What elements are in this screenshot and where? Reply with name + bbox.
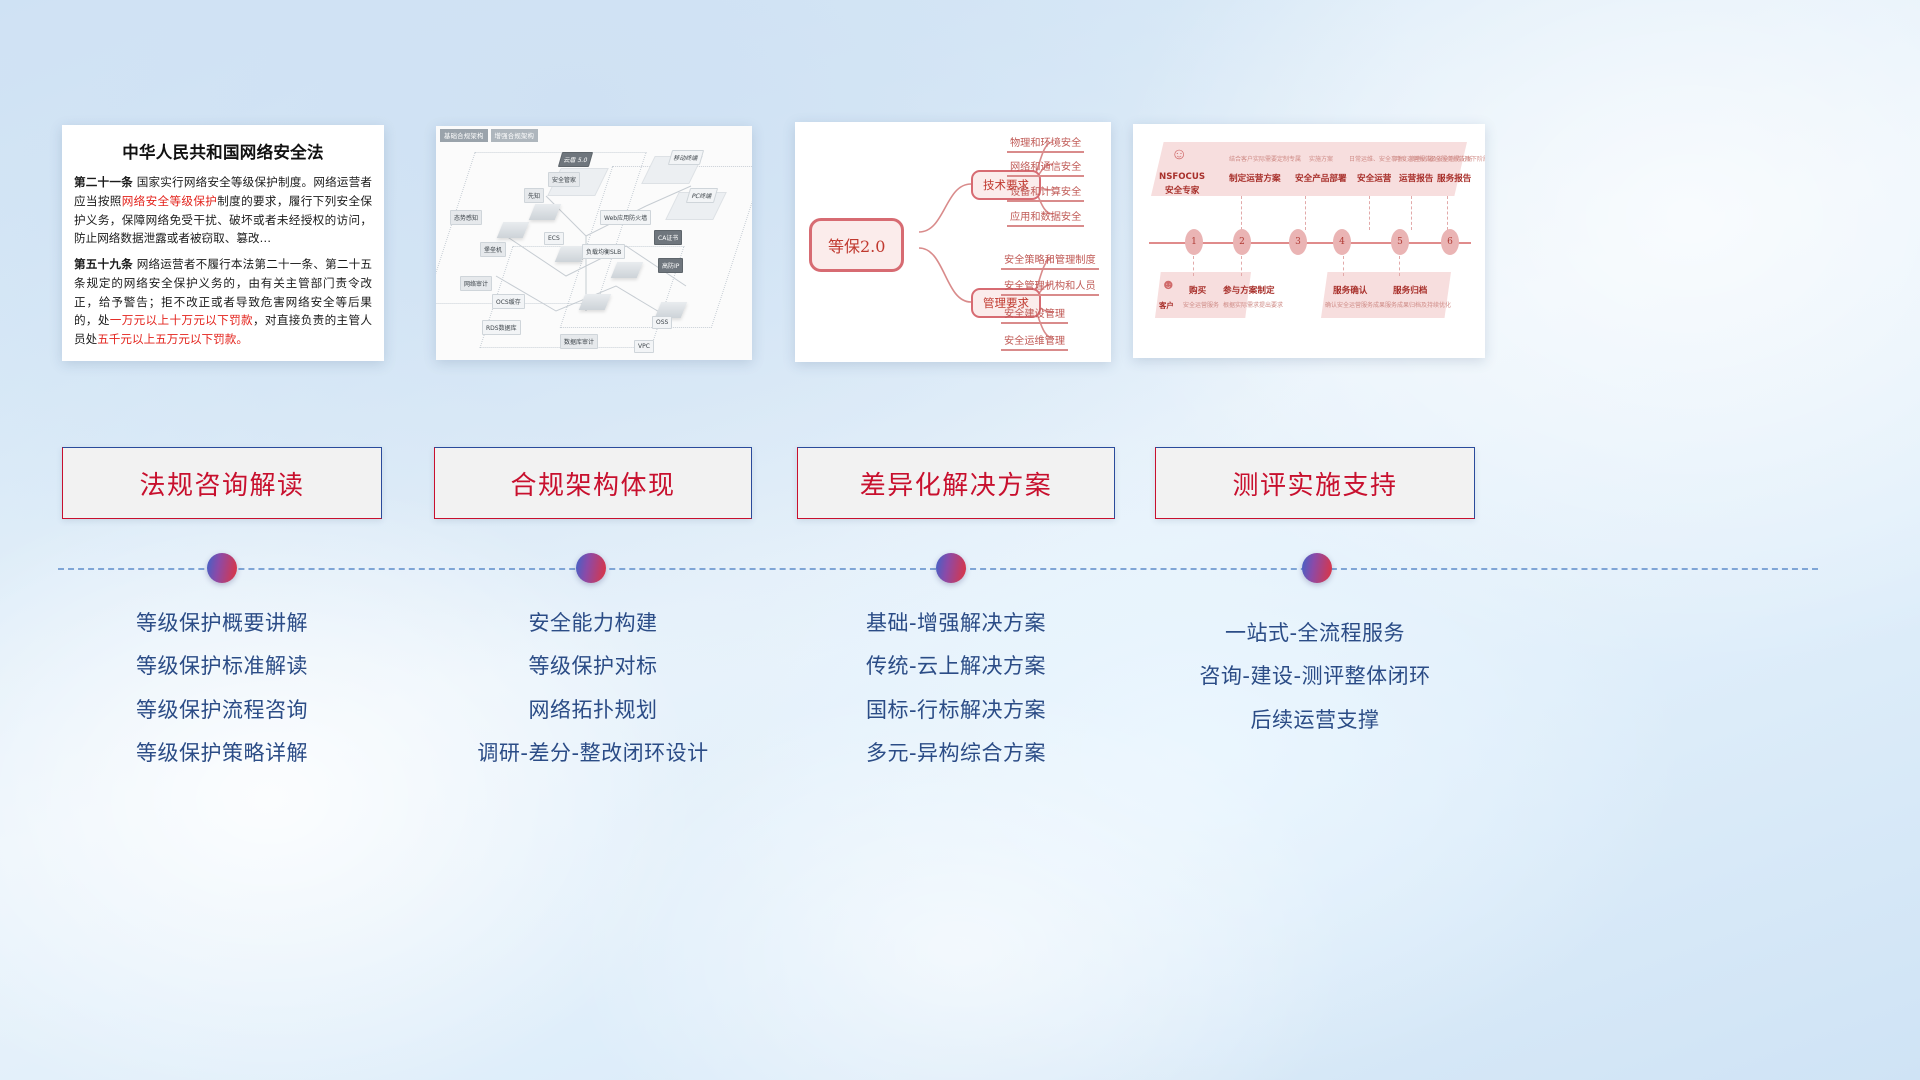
bullet-column-1: 等级保护概要讲解 等级保护标准解读 等级保护流程咨询 等级保护策略详解: [62, 610, 382, 783]
list-item: 等级保护标准解读: [62, 653, 382, 679]
list-item: 等级保护对标: [434, 653, 752, 679]
list-item: 基础-增强解决方案: [797, 610, 1115, 636]
title-boxes: 法规咨询解读 合规架构体现 差异化解决方案 测评实施支持: [0, 0, 1920, 1080]
list-item: 多元-异构综合方案: [797, 740, 1115, 766]
timeline-dot-3[interactable]: [936, 553, 966, 583]
list-item: 咨询-建设-测评整体闭环: [1150, 663, 1480, 689]
timeline-dot-4[interactable]: [1302, 553, 1332, 583]
title-label-1: 法规咨询解读: [139, 465, 304, 502]
title-label-2: 合规架构体现: [510, 465, 675, 502]
title-label-4: 测评实施支持: [1232, 465, 1397, 502]
list-item: 调研-差分-整改闭环设计: [434, 740, 752, 766]
list-item: 安全能力构建: [434, 610, 752, 636]
list-item: 网络拓扑规划: [434, 697, 752, 723]
list-item: 传统-云上解决方案: [797, 653, 1115, 679]
list-item: 等级保护策略详解: [62, 740, 382, 766]
list-item: 等级保护流程咨询: [62, 697, 382, 723]
title-box-2[interactable]: 合规架构体现: [434, 447, 752, 519]
title-box-1[interactable]: 法规咨询解读: [62, 447, 382, 519]
list-item: 国标-行标解决方案: [797, 697, 1115, 723]
bullet-column-4: 一站式-全流程服务 咨询-建设-测评整体闭环 后续运营支撑: [1150, 620, 1480, 750]
timeline-dot-1[interactable]: [207, 553, 237, 583]
title-label-3: 差异化解决方案: [860, 465, 1053, 502]
bullet-column-2: 安全能力构建 等级保护对标 网络拓扑规划 调研-差分-整改闭环设计: [434, 610, 752, 783]
list-item: 等级保护概要讲解: [62, 610, 382, 636]
list-item: 后续运营支撑: [1150, 707, 1480, 733]
list-item: 一站式-全流程服务: [1150, 620, 1480, 646]
title-box-3[interactable]: 差异化解决方案: [797, 447, 1115, 519]
title-box-4[interactable]: 测评实施支持: [1155, 447, 1475, 519]
bullet-column-3: 基础-增强解决方案 传统-云上解决方案 国标-行标解决方案 多元-异构综合方案: [797, 610, 1115, 783]
timeline-dot-2[interactable]: [576, 553, 606, 583]
